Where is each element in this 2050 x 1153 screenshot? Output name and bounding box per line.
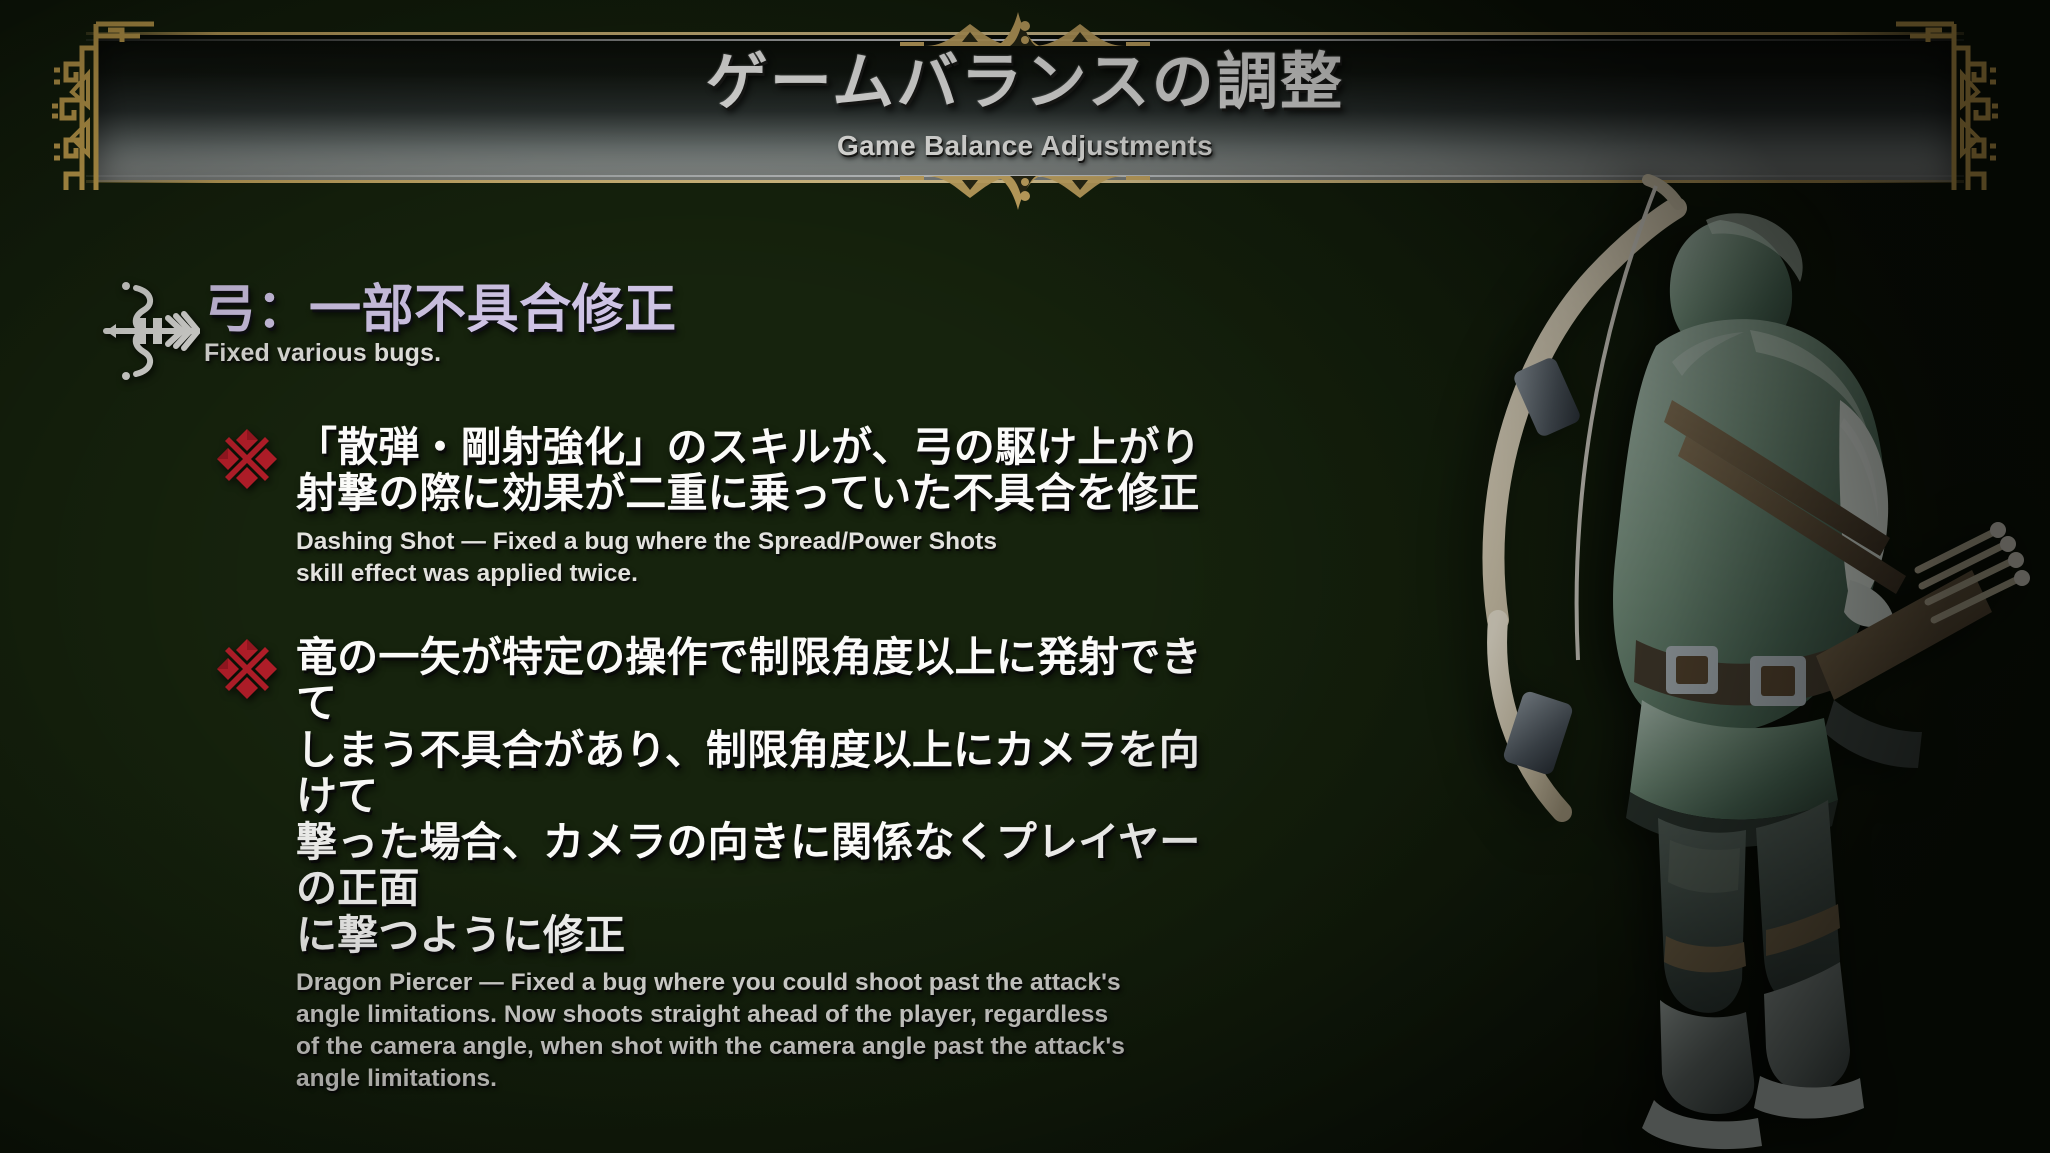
bullet-jp-text: 「散弾・剛射強化」のスキルが、弓の駆け上がり 射撃の際に効果が二重に乗っていた不… bbox=[296, 424, 1232, 517]
slide-root: ゲームバランスの調整 Game Balance Adjustments 弓：一部… bbox=[0, 0, 2050, 1153]
red-diamond-asterisk-icon bbox=[216, 638, 278, 700]
hunter-with-bow-character-art bbox=[1420, 100, 2040, 1153]
bullet-en-text: Dragon Piercer — Fixed a bug where you c… bbox=[296, 967, 1232, 1095]
frame-center-ornament-bottom bbox=[900, 170, 1150, 220]
section-heading-en: Fixed various bugs. bbox=[204, 339, 677, 368]
bullet-jp-text: 竜の一矢が特定の操作で制限角度以上に発射できて しまう不具合があり、制限角度以上… bbox=[296, 634, 1232, 958]
section-heading-jp: 弓：一部不具合修正 bbox=[204, 284, 677, 337]
list-item: 竜の一矢が特定の操作で制限角度以上に発射できて しまう不具合があり、制限角度以上… bbox=[212, 634, 1232, 1096]
list-item: 「散弾・剛射強化」のスキルが、弓の駆け上がり 射撃の際に効果が二重に乗っていた不… bbox=[212, 424, 1232, 590]
bullet-en-text: Dashing Shot — Fixed a bug where the Spr… bbox=[296, 526, 1232, 590]
bow-icon bbox=[96, 282, 200, 380]
frame-center-ornament-top bbox=[900, 2, 1150, 52]
red-diamond-asterisk-icon bbox=[216, 428, 278, 490]
bullet-list: 「散弾・剛射強化」のスキルが、弓の駆け上がり 射撃の際に効果が二重に乗っていた不… bbox=[212, 424, 1232, 1096]
section-heading: 弓：一部不具合修正 Fixed various bugs. bbox=[96, 288, 677, 380]
